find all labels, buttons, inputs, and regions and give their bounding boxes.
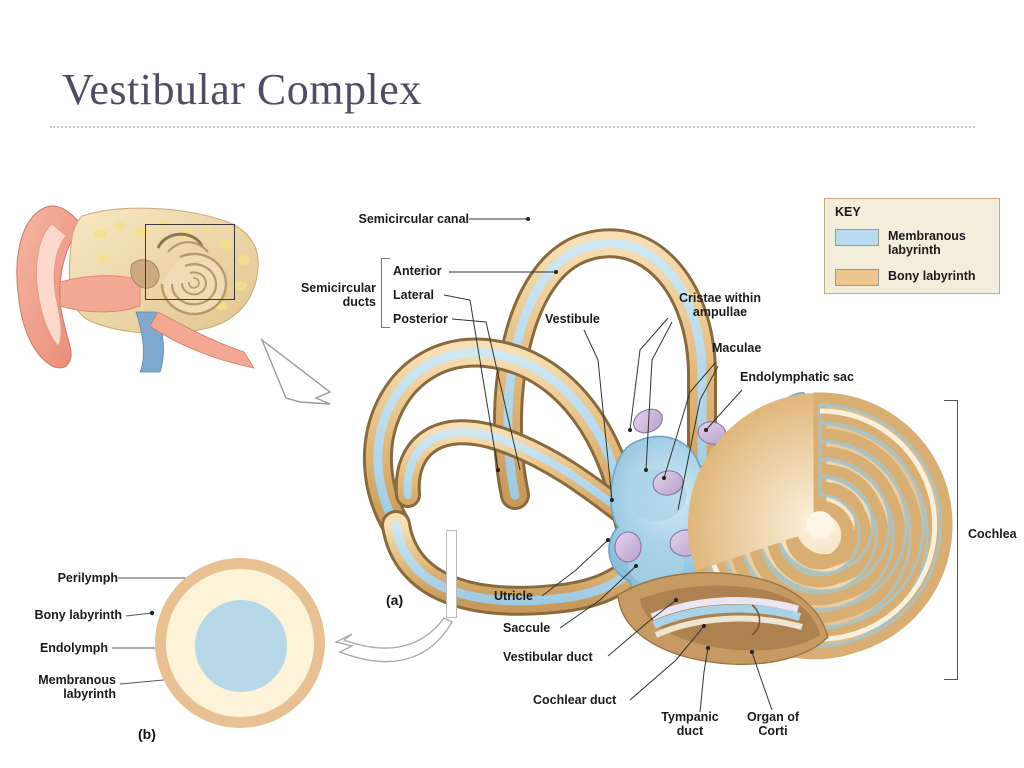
- bony-labyrinth-swatch: [835, 269, 879, 286]
- label-lateral: Lateral: [393, 288, 434, 302]
- title-divider: [50, 126, 975, 128]
- label-cochlea: Cochlea: [968, 527, 1017, 541]
- label-semicircular-canal: Semicircular canal: [314, 212, 469, 226]
- key-item-label: Bony labyrinth: [888, 269, 976, 283]
- endolymph-fill: [195, 600, 287, 692]
- key-item-label: Membranous labyrinth: [888, 229, 966, 257]
- panel-a-letter: (a): [386, 592, 403, 608]
- key-heading: KEY: [835, 205, 861, 219]
- page-title: Vestibular Complex: [62, 64, 422, 115]
- label-maculae: Maculae: [712, 341, 761, 355]
- key-item-bony-labyrinth: Bony labyrinth: [835, 269, 976, 286]
- key-legend-box: KEY Membranous labyrinth Bony labyrinth: [824, 198, 1000, 294]
- key-item-membranous-labyrinth: Membranous labyrinth: [835, 229, 966, 257]
- label-perilymph: Perilymph: [18, 571, 118, 585]
- label-anterior: Anterior: [393, 264, 442, 278]
- cochlea-bracket: [944, 400, 958, 680]
- slide-canvas: Vestibular Complex: [0, 0, 1024, 768]
- label-vestibular-duct: Vestibular duct: [503, 650, 593, 664]
- label-membranous-labyrinth: Membranous labyrinth: [12, 673, 116, 701]
- label-posterior: Posterior: [393, 312, 448, 326]
- label-cochlear-duct: Cochlear duct: [533, 693, 616, 707]
- membranous-labyrinth-swatch: [835, 229, 879, 246]
- label-bony-labyrinth: Bony labyrinth: [4, 608, 122, 622]
- label-organ-of-corti: Organ of Corti: [734, 710, 812, 738]
- label-saccule: Saccule: [503, 621, 550, 635]
- label-vestibule: Vestibule: [545, 312, 600, 326]
- panel-b-letter: (b): [138, 726, 156, 742]
- label-tympanic-duct: Tympanic duct: [652, 710, 728, 738]
- label-cristae-within-ampullae: Cristae within ampullae: [660, 291, 780, 319]
- semicircular-ducts-bracket: [381, 258, 390, 328]
- ear-zoom-region-box: [145, 224, 235, 300]
- label-utricle: Utricle: [494, 589, 533, 603]
- label-semicircular-ducts: Semicircular ducts: [276, 281, 376, 309]
- cross-section-marker: [446, 530, 457, 618]
- label-endolymph: Endolymph: [18, 641, 108, 655]
- label-endolymphatic-sac: Endolymphatic sac: [740, 370, 854, 384]
- labyrinth-cross-section-illustration: [155, 558, 325, 728]
